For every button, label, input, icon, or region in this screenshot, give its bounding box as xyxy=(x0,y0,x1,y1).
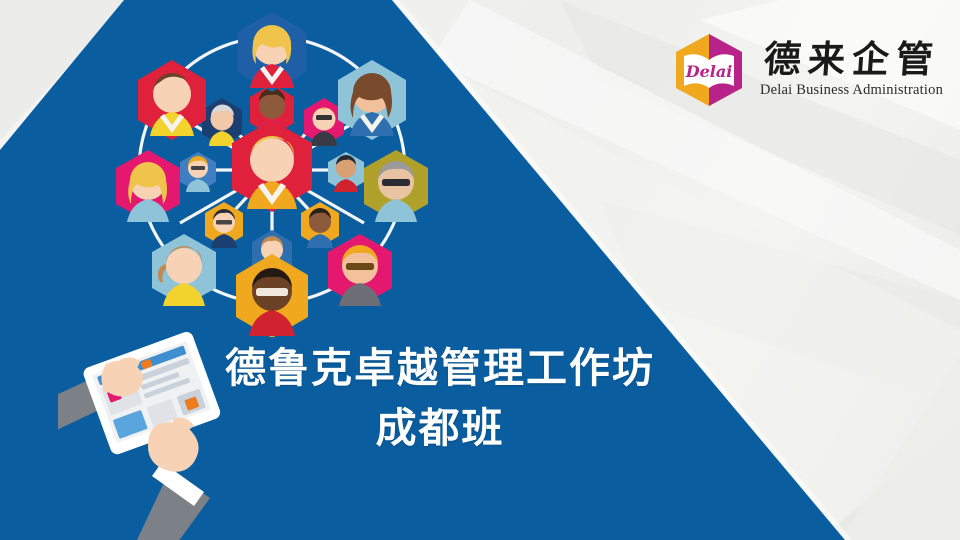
network-node-large-upper-left xyxy=(138,60,206,140)
network-node-small-upper-left xyxy=(202,98,242,146)
network-node-large-right xyxy=(364,150,428,222)
brand-logo: Delai 德来企管 Delai Business Administration xyxy=(672,32,943,108)
svg-text:Delai: Delai xyxy=(685,62,733,81)
company-name-en: Delai Business Administration xyxy=(760,82,943,99)
slide-canvas: 德鲁克卓越管理工作坊 成都班 Delai 德来企管 Delai Business… xyxy=(0,0,960,540)
network-node-large-top xyxy=(238,12,306,92)
network-node-small-mid-left xyxy=(180,152,216,192)
network-node-large-upper-right xyxy=(338,60,406,140)
page-subtitle: 成都班 xyxy=(0,402,880,454)
company-name-cn: 德来企管 xyxy=(762,41,941,79)
delai-hexagon-book-logo-icon: Delai xyxy=(672,32,746,108)
network-node-small-mid-right xyxy=(328,152,364,192)
page-title: 德鲁克卓越管理工作坊 xyxy=(0,342,880,394)
brand-logo-text: 德来企管 Delai Business Administration xyxy=(760,41,943,99)
title-block: 德鲁克卓越管理工作坊 成都班 xyxy=(0,342,880,455)
network-node-large-bottom xyxy=(236,254,308,337)
network-node-large-left xyxy=(116,150,180,222)
people-network-illustration xyxy=(112,2,432,332)
